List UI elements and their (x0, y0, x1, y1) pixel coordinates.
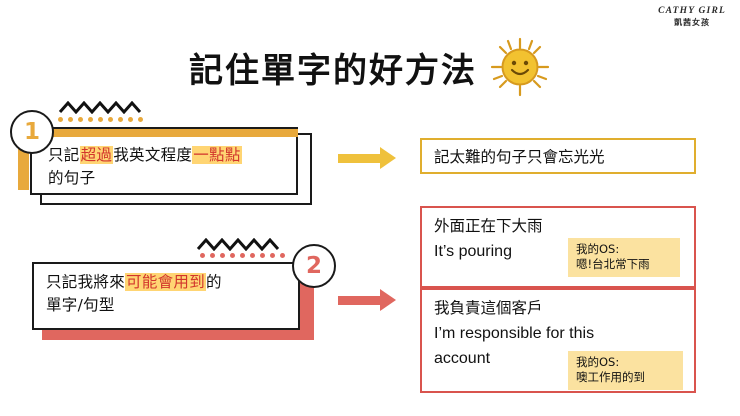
callout-1-text-part-2: 我英文程度 (113, 146, 192, 164)
sun-smiley-icon (489, 36, 551, 98)
os-note-2: 我的OS: 噢工作用的到 (568, 351, 683, 390)
callout-1-text: 只記超過我英文程度一點點 的句子 (48, 144, 298, 190)
callout-1-highlight-1: 一點點 (192, 146, 241, 164)
slide-canvas: CATHY GIRL 凱茜女孩 記住單字的好方法 (0, 0, 740, 416)
os-note-1: 我的OS: 嗯!台北常下雨 (568, 238, 680, 277)
callout-1-highlight-0: 超過 (80, 146, 114, 164)
os-note-2-label: 我的OS: (576, 355, 676, 370)
result-box-2a-line-0: 外面正在下大雨 (434, 214, 682, 239)
callout-2-text-line2: 單字/句型 (46, 296, 115, 314)
result-box-1-line-0: 記太難的句子只會忘光光 (434, 145, 682, 170)
callout-2-text-part-2: 的 (206, 273, 222, 291)
result-box-2b-line-0: 我負責這個客戶 (434, 296, 682, 321)
page-title: 記住單字的好方法 (0, 36, 740, 98)
callout-2-text-part-0: 只記我將來 (46, 273, 125, 291)
result-box-2b-line-1: I’m responsible for this (434, 321, 682, 346)
os-note-1-label: 我的OS: (576, 242, 673, 257)
callout-1-topbar (30, 127, 298, 137)
brand-name-zh: 凱茜女孩 (658, 18, 726, 28)
dots-decoration-1 (58, 117, 143, 122)
result-box-1: 記太難的句子只會忘光光 (420, 138, 696, 174)
os-note-1-body: 嗯!台北常下雨 (576, 257, 673, 272)
brand-logo: CATHY GIRL 凱茜女孩 (658, 6, 726, 28)
dots-decoration-2 (200, 253, 285, 258)
callout-2-number-badge: 2 (292, 244, 336, 288)
brand-name-en: CATHY GIRL (658, 6, 726, 18)
callout-2-text: 只記我將來可能會用到的 單字/句型 (46, 271, 296, 317)
callout-1-text-part-0: 只記 (48, 146, 80, 164)
arrow-right-red (338, 289, 396, 311)
arrow-right-yellow (338, 147, 396, 169)
callout-2-highlight-0: 可能會用到 (125, 273, 206, 291)
callout-1-text-line2: 的句子 (48, 169, 95, 187)
callout-1-number-badge: 1 (10, 110, 54, 154)
os-note-2-body: 噢工作用的到 (576, 370, 676, 385)
page-title-text: 記住單字的好方法 (189, 43, 477, 92)
